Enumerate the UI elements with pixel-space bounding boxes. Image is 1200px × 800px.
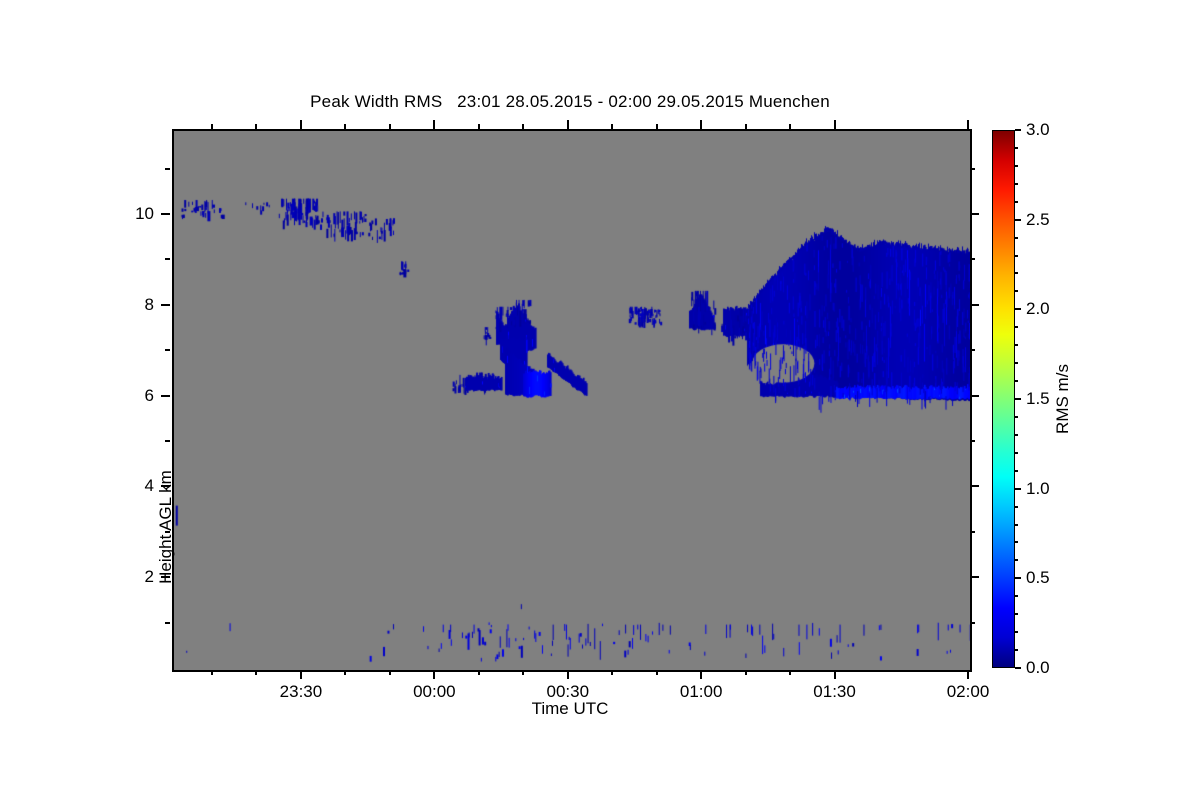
y-tick-minor xyxy=(165,440,170,442)
x-tick-major xyxy=(834,670,836,679)
colorbar-tick-minor xyxy=(1015,506,1018,508)
y-tick-minor-right xyxy=(970,531,975,533)
x-tick-minor xyxy=(389,670,391,675)
colorbar-tick-minor xyxy=(1015,380,1018,382)
x-tick-minor xyxy=(211,670,213,675)
colorbar-tick-minor xyxy=(1015,434,1018,436)
colorbar[interactable] xyxy=(992,130,1015,668)
x-tick-minor-top xyxy=(745,124,747,129)
colorbar-tick-label: 1.0 xyxy=(1026,479,1050,499)
colorbar-tick-label: 3.0 xyxy=(1026,120,1050,140)
y-tick-major xyxy=(161,304,170,306)
x-tick-minor-top xyxy=(478,124,480,129)
y-tick-major-right xyxy=(970,485,979,487)
y-tick-minor xyxy=(165,349,170,351)
colorbar-tick-minor xyxy=(1015,541,1018,543)
colorbar-gradient xyxy=(992,130,1015,668)
x-tick-major xyxy=(967,670,969,679)
y-tick-major-right xyxy=(970,395,979,397)
figure-canvas: Peak Width RMS 23:01 28.05.2015 - 02:00 … xyxy=(0,0,1200,800)
x-tick-major-top xyxy=(300,120,302,129)
colorbar-tick xyxy=(1015,398,1021,400)
x-tick-minor xyxy=(789,670,791,675)
x-tick-major xyxy=(433,670,435,679)
x-tick-minor xyxy=(522,670,524,675)
y-tick-minor-right xyxy=(970,440,975,442)
y-tick-label: 2 xyxy=(145,567,154,587)
y-tick-label: 4 xyxy=(145,476,154,496)
y-tick-major-right xyxy=(970,576,979,578)
y-tick-minor-right xyxy=(970,349,975,351)
heatmap-data-layer xyxy=(174,131,970,670)
x-tick-minor xyxy=(656,670,658,675)
colorbar-tick-minor xyxy=(1015,362,1018,364)
x-tick-minor xyxy=(745,670,747,675)
colorbar-tick-minor xyxy=(1015,272,1018,274)
colorbar-tick-label: 2.5 xyxy=(1026,210,1050,230)
colorbar-tick-minor xyxy=(1015,326,1018,328)
colorbar-tick-minor xyxy=(1015,452,1018,454)
colorbar-tick-label: 0.0 xyxy=(1026,658,1050,678)
colorbar-tick-minor xyxy=(1015,631,1018,633)
y-tick-minor xyxy=(165,258,170,260)
colorbar-tick-minor xyxy=(1015,524,1018,526)
colorbar-tick-minor xyxy=(1015,290,1018,292)
y-tick-label: 10 xyxy=(135,204,154,224)
x-tick-minor-top xyxy=(656,124,658,129)
colorbar-tick xyxy=(1015,577,1021,579)
colorbar-tick-minor xyxy=(1015,344,1018,346)
x-tick-major-top xyxy=(700,120,702,129)
x-tick-minor-top xyxy=(211,124,213,129)
x-tick-minor xyxy=(255,670,257,675)
x-tick-minor xyxy=(344,670,346,675)
colorbar-tick-minor xyxy=(1015,416,1018,418)
x-tick-minor-top xyxy=(789,124,791,129)
page-title: Peak Width RMS 23:01 28.05.2015 - 02:00 … xyxy=(0,92,1140,112)
y-tick-minor-right xyxy=(970,168,975,170)
x-tick-minor xyxy=(478,670,480,675)
y-tick-label: 6 xyxy=(145,386,154,406)
x-tick-major-top xyxy=(433,120,435,129)
x-tick-minor-top xyxy=(522,124,524,129)
colorbar-tick-minor xyxy=(1015,147,1018,149)
y-axis-label: Height AGL km xyxy=(156,470,176,584)
plot-axes-area[interactable] xyxy=(172,129,972,672)
colorbar-tick xyxy=(1015,219,1021,221)
x-tick-major xyxy=(567,670,569,679)
colorbar-tick-label: 1.5 xyxy=(1026,389,1050,409)
colorbar-tick-minor xyxy=(1015,255,1018,257)
x-axis-label: Time UTC xyxy=(172,699,968,719)
y-tick-minor xyxy=(165,622,170,624)
x-tick-minor-top xyxy=(611,124,613,129)
colorbar-label: RMS m/s xyxy=(1053,364,1073,434)
colorbar-tick-minor xyxy=(1015,470,1018,472)
colorbar-tick-minor xyxy=(1015,183,1018,185)
colorbar-tick-minor xyxy=(1015,595,1018,597)
y-tick-minor xyxy=(165,168,170,170)
x-tick-major xyxy=(300,670,302,679)
colorbar-tick xyxy=(1015,488,1021,490)
colorbar-tick xyxy=(1015,129,1021,131)
x-tick-minor xyxy=(611,670,613,675)
x-tick-major xyxy=(700,670,702,679)
x-tick-minor-top xyxy=(255,124,257,129)
colorbar-tick-minor xyxy=(1015,613,1018,615)
y-tick-minor-right xyxy=(970,258,975,260)
x-tick-major-top xyxy=(567,120,569,129)
y-tick-major-right xyxy=(970,304,979,306)
x-tick-minor-top xyxy=(389,124,391,129)
x-tick-major-top xyxy=(834,120,836,129)
x-tick-minor-top xyxy=(344,124,346,129)
y-tick-major-right xyxy=(970,213,979,215)
x-tick-major-top xyxy=(967,120,969,129)
colorbar-tick-label: 0.5 xyxy=(1026,568,1050,588)
y-tick-label: 8 xyxy=(145,295,154,315)
colorbar-tick xyxy=(1015,667,1021,669)
colorbar-tick xyxy=(1015,308,1021,310)
y-tick-minor-right xyxy=(970,622,975,624)
colorbar-tick-minor xyxy=(1015,559,1018,561)
colorbar-tick-minor xyxy=(1015,165,1018,167)
colorbar-tick-minor xyxy=(1015,201,1018,203)
colorbar-tick-label: 2.0 xyxy=(1026,299,1050,319)
y-tick-major xyxy=(161,395,170,397)
y-tick-major xyxy=(161,213,170,215)
colorbar-tick-minor xyxy=(1015,649,1018,651)
colorbar-tick-minor xyxy=(1015,237,1018,239)
